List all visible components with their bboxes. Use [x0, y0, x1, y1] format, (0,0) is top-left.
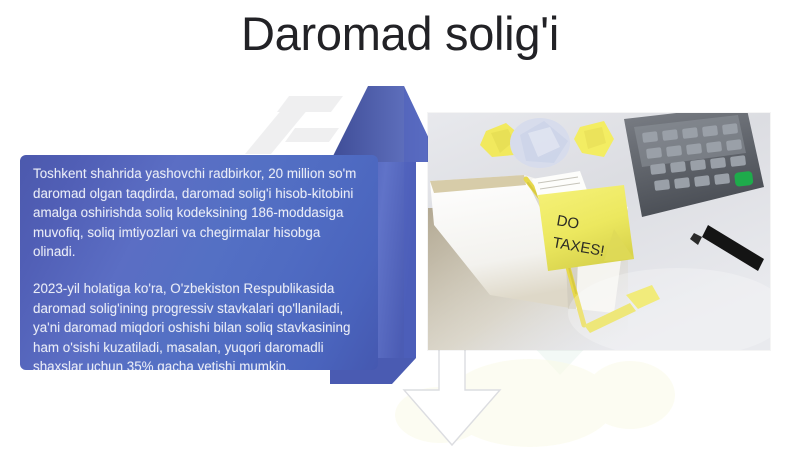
content-photo: DO TAXES!	[428, 113, 770, 350]
body-paragraph-2: 2023-yil holatiga ko'ra, O'zbekiston Res…	[33, 279, 364, 370]
body-textbox: Toshkent shahrida yashovchi radbirkor, 2…	[20, 155, 378, 370]
slide-canvas: Daromad solig'i	[0, 0, 800, 449]
body-paragraph-1: Toshkent shahrida yashovchi radbirkor, 2…	[33, 164, 364, 262]
photo-scene: DO TAXES!	[428, 113, 770, 350]
page-title: Daromad solig'i	[0, 8, 800, 61]
